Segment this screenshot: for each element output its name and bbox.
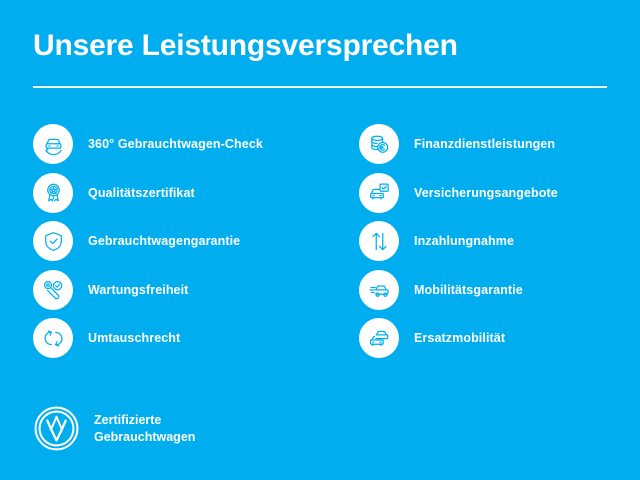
car-insurance-icon bbox=[359, 173, 399, 213]
benefit-label: Mobilitätsgarantie bbox=[414, 283, 523, 297]
exchange-arrows-icon bbox=[33, 318, 73, 358]
shield-check-icon bbox=[33, 221, 73, 261]
benefit-label: Umtauschrecht bbox=[88, 331, 180, 345]
benefit-label: Gebrauchtwagengarantie bbox=[88, 234, 240, 248]
benefit-item-gebrauchtwagen-check: 360° Gebrauchtwagen-Check bbox=[33, 124, 323, 164]
volkswagen-logo bbox=[33, 405, 80, 452]
benefit-label: Ersatzmobilität bbox=[414, 331, 505, 345]
brand-text: Zertifizierte Gebrauchtwagen bbox=[94, 412, 195, 446]
benefit-column-left: 360° Gebrauchtwagen-Check Qualitätszerti… bbox=[33, 124, 323, 367]
promo-card: Unsere Leistungsversprechen 360° Gebrauc… bbox=[0, 0, 640, 480]
benefit-item-finanzdienstleistungen: Finanzdienstleistungen bbox=[359, 124, 640, 164]
benefit-item-qualitaetszertifikat: Qualitätszertifikat bbox=[33, 173, 323, 213]
benefit-label: Finanzdienstleistungen bbox=[414, 137, 555, 151]
benefit-item-gebrauchtwagengarantie: Gebrauchtwagengarantie bbox=[33, 221, 323, 261]
two-cars-icon bbox=[359, 318, 399, 358]
up-down-arrows-icon bbox=[359, 221, 399, 261]
title-divider bbox=[33, 86, 607, 88]
quality-rosette-icon bbox=[33, 173, 73, 213]
benefit-label: Qualitätszertifikat bbox=[88, 186, 195, 200]
header: Unsere Leistungsversprechen bbox=[33, 28, 607, 64]
benefit-label: Inzahlungnahme bbox=[414, 234, 514, 248]
benefit-item-umtauschrecht: Umtauschrecht bbox=[33, 318, 323, 358]
wrench-check-icon bbox=[33, 270, 73, 310]
brand-text-line2: Gebrauchtwagen bbox=[94, 430, 195, 444]
benefit-item-inzahlungnahme: Inzahlungnahme bbox=[359, 221, 640, 261]
benefit-label: 360° Gebrauchtwagen-Check bbox=[88, 137, 263, 151]
car-360-check-icon bbox=[33, 124, 73, 164]
benefit-label: Wartungsfreiheit bbox=[88, 283, 188, 297]
car-motion-icon bbox=[359, 270, 399, 310]
benefit-item-ersatzmobilitaet: Ersatzmobilität bbox=[359, 318, 640, 358]
brand-text-line1: Zertifizierte bbox=[94, 413, 161, 427]
benefit-item-mobilitaetsgarantie: Mobilitätsgarantie bbox=[359, 270, 640, 310]
benefit-item-versicherungsangebote: Versicherungsangebote bbox=[359, 173, 640, 213]
brand-lockup: Zertifizierte Gebrauchtwagen bbox=[33, 405, 195, 452]
page-title: Unsere Leistungsversprechen bbox=[33, 28, 607, 64]
benefit-label: Versicherungsangebote bbox=[414, 186, 558, 200]
benefit-item-wartungsfreiheit: Wartungsfreiheit bbox=[33, 270, 323, 310]
coins-euro-icon bbox=[359, 124, 399, 164]
benefit-column-right: Finanzdienstleistungen Versicherungsange… bbox=[359, 124, 640, 367]
